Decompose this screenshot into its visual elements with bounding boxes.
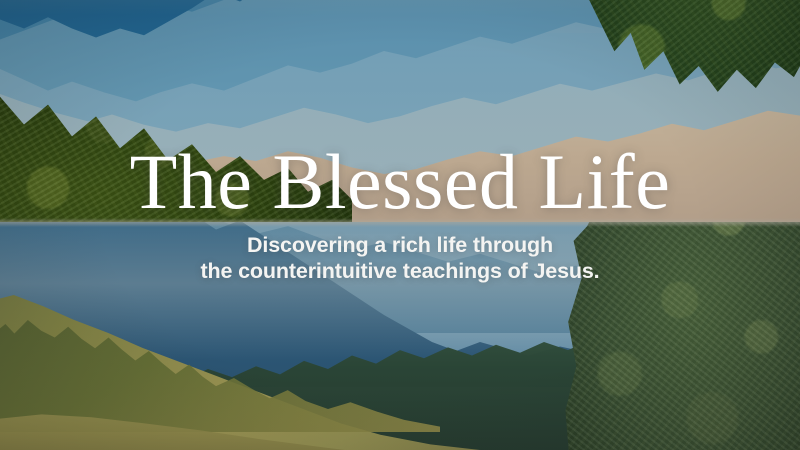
foreground-tree-right [560,222,800,450]
mountain-landscape [0,222,800,450]
mirrored-sky-reflection [0,0,800,222]
reflection-inner [0,0,800,222]
landscape-inner [0,222,800,450]
title-slide: The Blessed Life Discovering a rich life… [0,0,800,450]
